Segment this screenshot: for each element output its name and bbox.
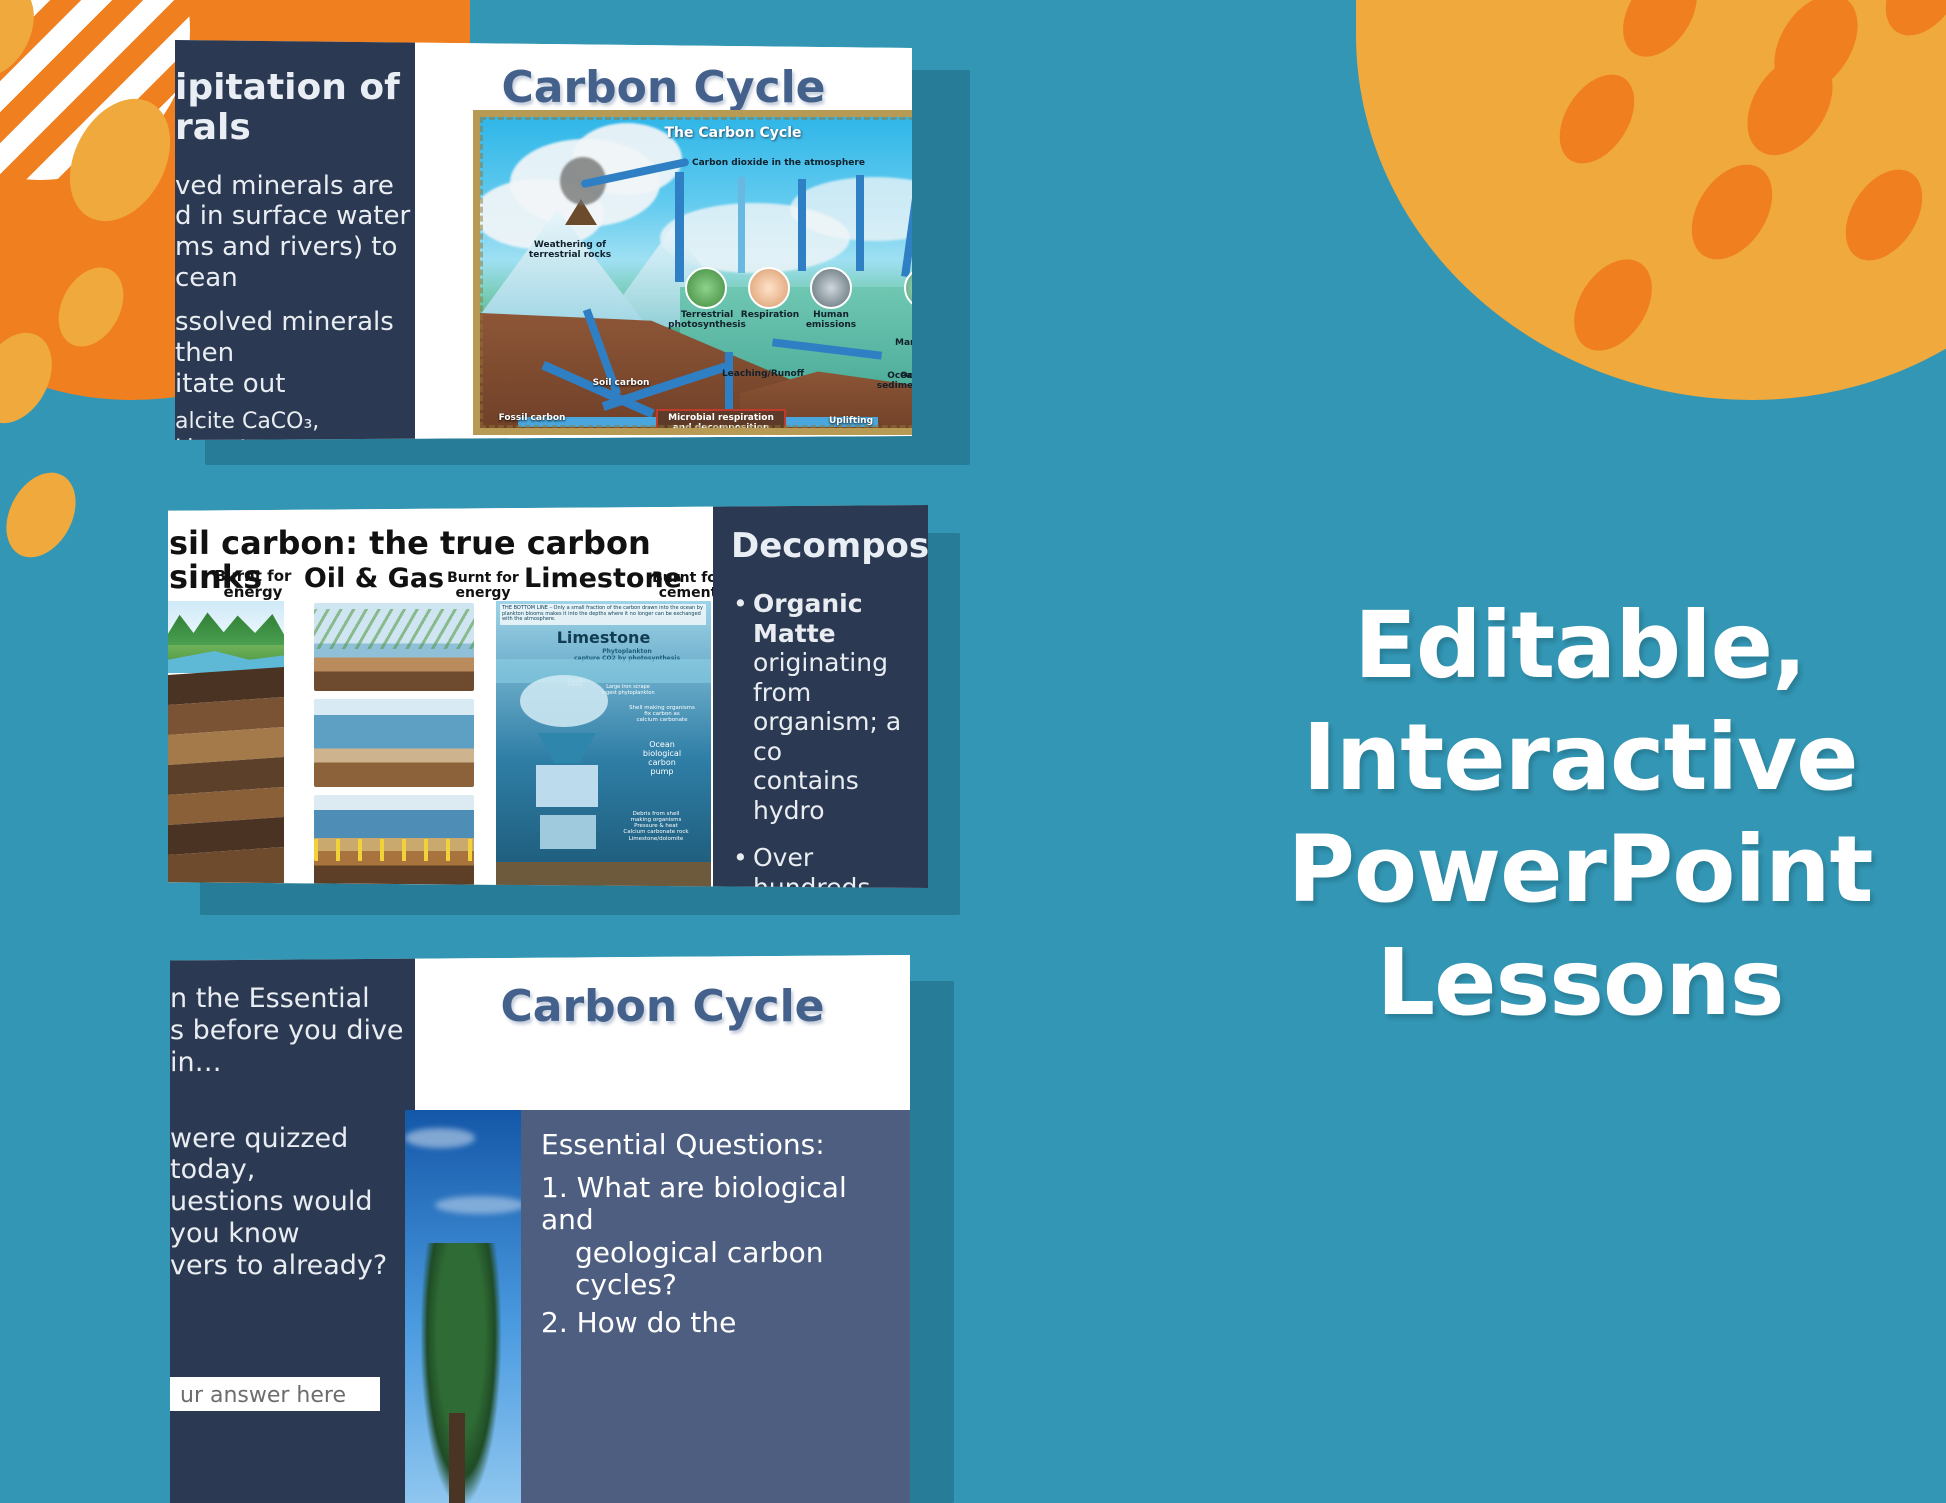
label-soil-carbon: Soil carbon	[576, 379, 666, 389]
limestone-depth-2: Shell making organisms fix carbon as cal…	[616, 705, 708, 723]
essential-questions-heading: Essential Questions:	[541, 1128, 905, 1162]
seafloor	[496, 862, 711, 888]
arrow-up-3	[856, 175, 864, 271]
slide3-answer-input[interactable]: ur answer here	[170, 1377, 380, 1411]
essential-question-2: 2. How do the	[541, 1307, 905, 1339]
slide1-bullet-1: ved minerals are d in surface water ms a…	[175, 171, 415, 294]
arrow-up-2	[798, 179, 806, 271]
label-respiration: Respiration	[735, 311, 805, 321]
essential-question-1: 1. What are biological and geological ca…	[541, 1172, 905, 1302]
promo-headline: Editable, Interactive PowerPoint Lessons	[1230, 590, 1930, 1039]
ocean-surface-band	[496, 659, 711, 683]
oil-panel-2	[314, 699, 474, 787]
dot-decoration	[1675, 150, 1789, 274]
soil-strata-graphic	[168, 601, 284, 888]
slide2-right-panel: Decompositio • Organic Matte originating…	[713, 505, 928, 888]
arrow-down-1	[738, 177, 745, 273]
arrow-up-1	[675, 172, 684, 282]
dot-decoration	[0, 320, 67, 436]
sediment-box	[536, 765, 598, 807]
label-human-emissions: Human emissions	[798, 311, 864, 331]
slide1-left-panel: ipitation of rals ved minerals are d in …	[175, 40, 415, 440]
promo-line-3: PowerPoint	[1230, 814, 1930, 926]
slide2-panel-title: Decompositio	[731, 527, 928, 565]
slide3-title: Carbon Cycle	[415, 981, 910, 1032]
slide-card-1[interactable]: ipitation of rals ved minerals are d in …	[175, 40, 945, 465]
essential-questions-panel: Essential Questions: 1. What are biologi…	[521, 1110, 910, 1503]
slide-1[interactable]: ipitation of rals ved minerals are d in …	[175, 40, 912, 440]
human-emissions-icon	[810, 267, 852, 309]
bullet-dot: •	[733, 589, 748, 619]
slide-2[interactable]: sil carbon: the true carbon sinks Burnt …	[168, 505, 928, 888]
soil-band-7	[168, 847, 284, 888]
slide2-col-header-oil-gas: Oil & Gas	[294, 565, 454, 593]
slide2-illustration-area: sil carbon: the true carbon sinks Burnt …	[168, 505, 713, 888]
limestone-bottom-line: THE BOTTOM LINE – Only a small fraction …	[500, 604, 706, 625]
dot-decoration	[1830, 156, 1938, 275]
label-weathering: Weathering of terrestrial rocks	[510, 241, 630, 261]
slide3-question: were quizzed today, uestions would you k…	[170, 1123, 415, 1282]
dot-decoration	[1757, 0, 1875, 108]
limestone-heading: Limestone	[496, 629, 711, 647]
cloud	[405, 1128, 475, 1148]
promo-line-4: Lessons	[1230, 927, 1930, 1039]
label-marine-respiration: Marine respir	[895, 339, 912, 349]
dot-decoration	[46, 256, 137, 357]
plankton-bubble	[520, 675, 608, 727]
slide-card-3[interactable]: n the Essential s before you dive in… we…	[170, 955, 950, 1503]
terrestrial-photosynthesis-icon	[685, 267, 727, 309]
label-leaching-runoff: Leaching/Runoff	[708, 370, 818, 380]
slide1-bullet-2: ssolved minerals then itate out	[175, 307, 415, 399]
slide3-intro: n the Essential s before you dive in…	[170, 983, 415, 1079]
dot-decoration	[1608, 0, 1712, 70]
dot-decoration	[1870, 0, 1946, 49]
dot-decoration	[0, 0, 49, 91]
slide-card-2[interactable]: sil carbon: the true carbon sinks Burnt …	[168, 505, 958, 915]
label-ocean: Ocean	[900, 372, 912, 382]
label-atmosphere: Carbon dioxide in the atmosphere	[692, 159, 912, 169]
respiration-icon	[748, 267, 790, 309]
cloud	[435, 1196, 521, 1214]
slide1-content-area: Carbon Cycle	[415, 40, 912, 440]
label-marine-photosynthesis: Ma photos	[900, 311, 912, 331]
slide2-bullet-2: • Over hundreds of years, burie matter f…	[731, 843, 928, 888]
dot-decoration	[0, 461, 89, 570]
slide3-content-area: Carbon Cycle Essential Questions: 1. Wha…	[415, 955, 910, 1503]
striped-circle-decoration	[0, 0, 190, 180]
arrow-microbial-to-leaching	[725, 352, 733, 412]
poster-canvas: Editable, Interactive PowerPoint Lessons…	[0, 0, 1946, 1503]
dot-decoration	[1730, 39, 1850, 170]
bullet-dot: •	[733, 843, 748, 873]
label-microbial-respiration: Microbial respiration and decomposition	[656, 409, 786, 435]
diagram-title: The Carbon Cycle	[480, 125, 912, 141]
yellow-corner-blob	[1356, 0, 1946, 400]
slide1-title: Carbon Cycle	[415, 62, 912, 113]
label-uplifting: Uplifting	[816, 417, 886, 427]
sediment-box-2	[540, 815, 596, 849]
limestone-debris-label: Debris from shell making organisms Press…	[604, 811, 708, 842]
limestone-pump-label: Ocean biological carbon pump	[622, 741, 702, 777]
oil-gas-graphic	[314, 603, 474, 888]
label-fossil-carbon: Fossil carbon	[486, 414, 578, 424]
slide-3[interactable]: n the Essential s before you dive in… we…	[170, 955, 910, 1503]
slide1-panel-title: ipitation of rals	[175, 68, 415, 149]
slide1-subbullet: alcite CaCO₃, Limestone	[175, 409, 415, 440]
promo-line-1: Editable,	[1230, 590, 1930, 702]
slide2-col-header-burnt-energy-1: Burnt for energy	[208, 569, 298, 601]
promo-line-2: Interactive	[1230, 702, 1930, 814]
slide2-bullet-1: • Organic Matte originating from organis…	[731, 589, 928, 825]
tree-photo	[405, 1110, 521, 1503]
dot-decoration	[50, 81, 190, 238]
slide3-left-panel: n the Essential s before you dive in… we…	[170, 955, 415, 1503]
dot-decoration	[1558, 245, 1668, 365]
oil-panel-1-plankton	[314, 609, 474, 649]
tree-trunk	[449, 1413, 465, 1503]
carbon-cycle-diagram: The Carbon Cycle	[473, 110, 912, 435]
limestone-ocean-graphic: THE BOTTOM LINE – Only a small fraction …	[496, 601, 711, 888]
carbon-funnel	[538, 733, 596, 763]
dot-decoration	[1544, 61, 1649, 177]
oil-panel-3-arrows	[314, 839, 474, 861]
